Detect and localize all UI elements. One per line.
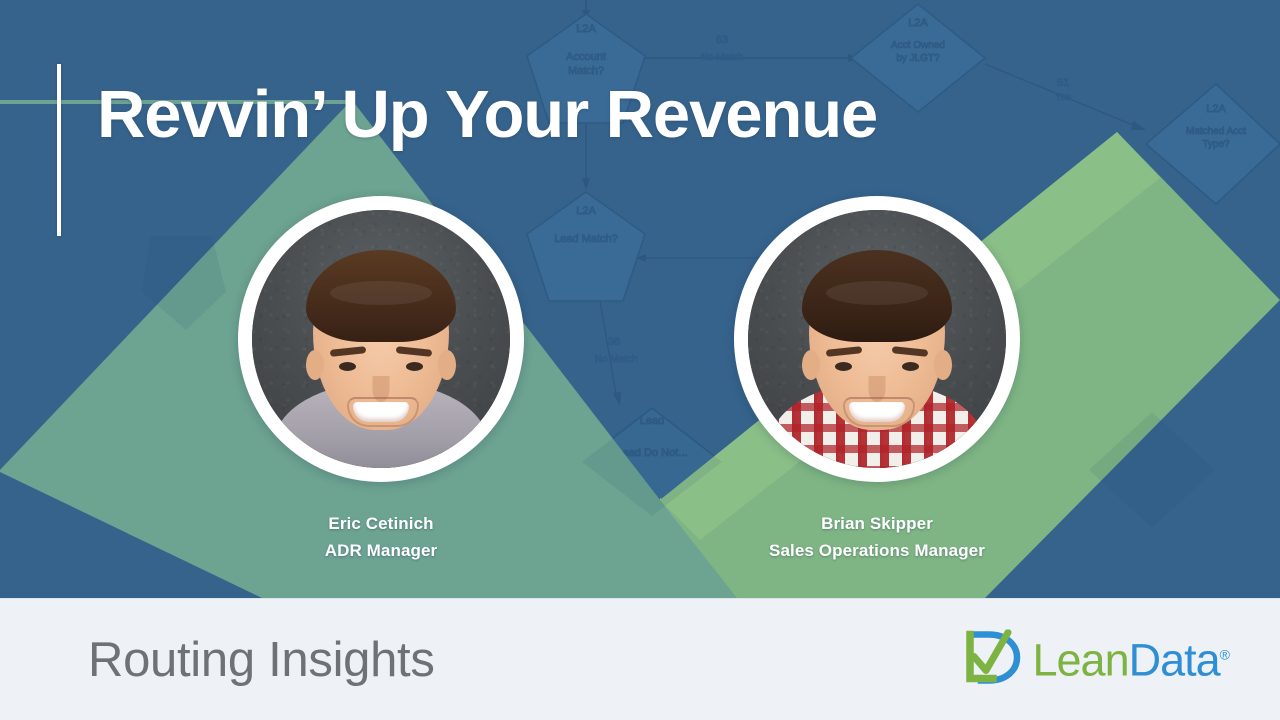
eye-left [835, 362, 852, 371]
presentation-slide: L2A Account Match? 63 No Match L2A Acct … [0, 0, 1280, 720]
eye-right [902, 362, 919, 371]
speaker-card-eric-cetinich: Eric Cetinich ADR Manager [231, 196, 531, 561]
speaker-role: Sales Operations Manager [727, 541, 1027, 561]
svg-text:Account: Account [566, 51, 606, 63]
ear-left [802, 350, 820, 380]
eye-right [406, 362, 423, 371]
avatar-photo-brian-skipper [748, 210, 1006, 468]
mouth-smile [849, 402, 905, 422]
speaker-name: Eric Cetinich [231, 514, 531, 534]
svg-text:63: 63 [716, 34, 728, 46]
svg-text:Matched Acct: Matched Acct [1186, 126, 1246, 137]
accent-bar [57, 64, 61, 236]
svg-text:No Match: No Match [701, 52, 744, 63]
leandata-logo: LeanData® [959, 629, 1231, 690]
speaker-name: Brian Skipper [727, 514, 1027, 534]
ear-right [438, 350, 456, 380]
speaker-card-brian-skipper: Brian Skipper Sales Operations Manager [727, 196, 1027, 561]
avatar-photo-eric-cetinich [252, 210, 510, 468]
svg-text:L2A: L2A [576, 23, 596, 35]
leandata-wordmark: LeanData® [1033, 637, 1231, 682]
leandata-checkmark-logo-icon [959, 629, 1021, 690]
avatar [238, 196, 524, 482]
registered-trademark-icon: ® [1220, 646, 1230, 662]
logo-text-lean: Lean [1033, 634, 1129, 685]
eyebrow-left [330, 346, 367, 357]
eye-left [339, 362, 356, 371]
footer-title: Routing Insights [88, 632, 435, 688]
eyebrow-right [396, 346, 433, 357]
ear-left [306, 350, 324, 380]
svg-text:51: 51 [1057, 77, 1069, 89]
page-title: Revvin’ Up Your Revenue [97, 79, 877, 151]
svg-text:Acct Owned: Acct Owned [891, 40, 945, 51]
svg-text:by JLGT?: by JLGT? [896, 53, 940, 64]
logo-text-data: Data [1129, 634, 1220, 685]
avatar [734, 196, 1020, 482]
eyebrow-left [826, 346, 863, 357]
portrait-photo [252, 210, 510, 468]
svg-text:No Match: No Match [595, 354, 638, 365]
svg-text:L2A: L2A [1206, 103, 1226, 115]
eyebrow-right [892, 346, 929, 357]
svg-text:Type?: Type? [1202, 139, 1230, 150]
mouth-smile [353, 402, 409, 422]
ear-right [934, 350, 952, 380]
svg-text:Yes: Yes [1055, 92, 1071, 103]
svg-text:L2A: L2A [908, 17, 928, 29]
slide-footer: Routing Insights LeanData® [0, 598, 1280, 720]
speaker-role: ADR Manager [231, 541, 531, 561]
svg-text:36: 36 [608, 336, 620, 348]
portrait-photo [748, 210, 1006, 468]
